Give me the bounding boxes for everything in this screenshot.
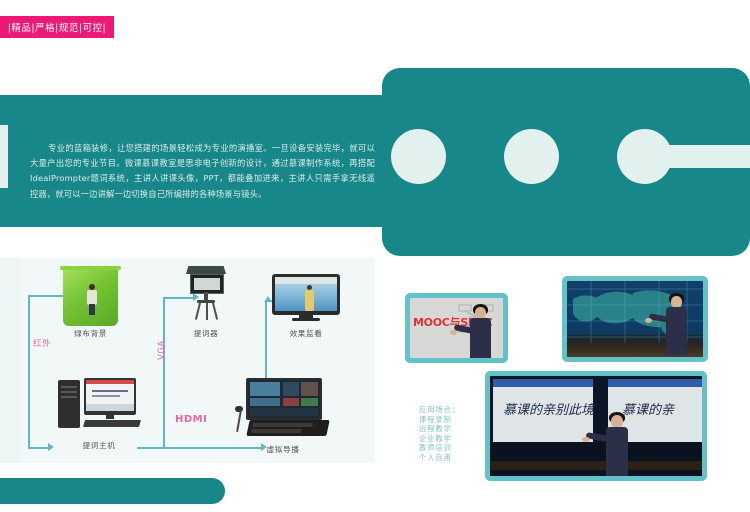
photo-world-map [562, 276, 708, 362]
link-vga-vertical [163, 297, 165, 447]
usage-list-item-0: 课程录制 [419, 415, 481, 425]
node-green-screen [63, 268, 118, 326]
photo-dual-board: 慕课的亲别此境 慕课的亲 [485, 371, 707, 481]
usage-list: 应用场合： 课程录制 远程教学 企业教学 教师培训 个人自用 [419, 405, 481, 463]
link-label-vga: VGA [157, 340, 167, 360]
usage-list-item-3: 教师培训 [419, 443, 481, 453]
node-prompter-host [58, 378, 140, 434]
intro-paragraph-text: 专业的蓝箱装修，让您搭建的场景轻松成为专业的演播室。一旦设备安装完毕，就可以大量… [30, 143, 375, 199]
photo-mooc: MOOC与SPOC [405, 293, 508, 363]
link-monitor-arrowhead [264, 296, 272, 302]
intro-paragraph: 专业的蓝箱装修，让您搭建的场景轻松成为专业的演播室。一旦设备安装完毕，就可以大量… [30, 141, 375, 202]
node-effect-monitor [272, 274, 340, 322]
poster-page: |精品|严格|规范|可控| 专业的蓝箱装修，让您搭建的场景轻松成为专业的演播室。… [0, 0, 750, 512]
link-label-infrared: 红外 [33, 337, 51, 349]
photo-mooc-presenter [462, 304, 502, 358]
usage-list-item-4: 个人自用 [419, 453, 481, 463]
node-virtual-switcher [238, 378, 330, 440]
photo-dual-board-left-screen: 慕课的亲别此境 [493, 379, 593, 449]
link-infrared-arrowhead [48, 443, 54, 451]
link-label-hdmi: HDMI [175, 414, 207, 425]
band-left-notch [0, 125, 8, 188]
node-label-teleprompter: 提词器 [176, 328, 236, 339]
link-infrared-vertical [28, 295, 30, 448]
bottom-teal-bar [0, 478, 225, 504]
decorative-circle-1 [391, 129, 446, 184]
photo-dual-board-presenter [598, 412, 640, 476]
node-label-prompter-host: 提词主机 [62, 440, 136, 451]
node-label-green-screen: 绿布背景 [58, 328, 123, 339]
quality-badge: |精品|严格|规范|可控| [0, 16, 114, 38]
usage-list-item-1: 远程教学 [419, 424, 481, 434]
node-label-effect-monitor: 效果监看 [276, 328, 336, 339]
green-screen-presenter-icon [87, 284, 97, 314]
quality-badge-label: |精品|严格|规范|可控| [8, 20, 107, 34]
node-teleprompter [185, 266, 227, 322]
photo-dual-board-handwriting-left: 慕课的亲别此境 [503, 399, 594, 418]
link-infrared-bottom [28, 447, 50, 449]
usage-list-title: 应用场合： [419, 405, 481, 415]
node-label-virtual-switcher: 虚拟导播 [245, 444, 321, 455]
photo-world-map-presenter [659, 293, 699, 355]
decorative-circle-2 [504, 129, 559, 184]
diagram-background-edge [0, 258, 20, 463]
usage-list-item-2: 企业教学 [419, 434, 481, 444]
band-right-stub [655, 145, 750, 168]
